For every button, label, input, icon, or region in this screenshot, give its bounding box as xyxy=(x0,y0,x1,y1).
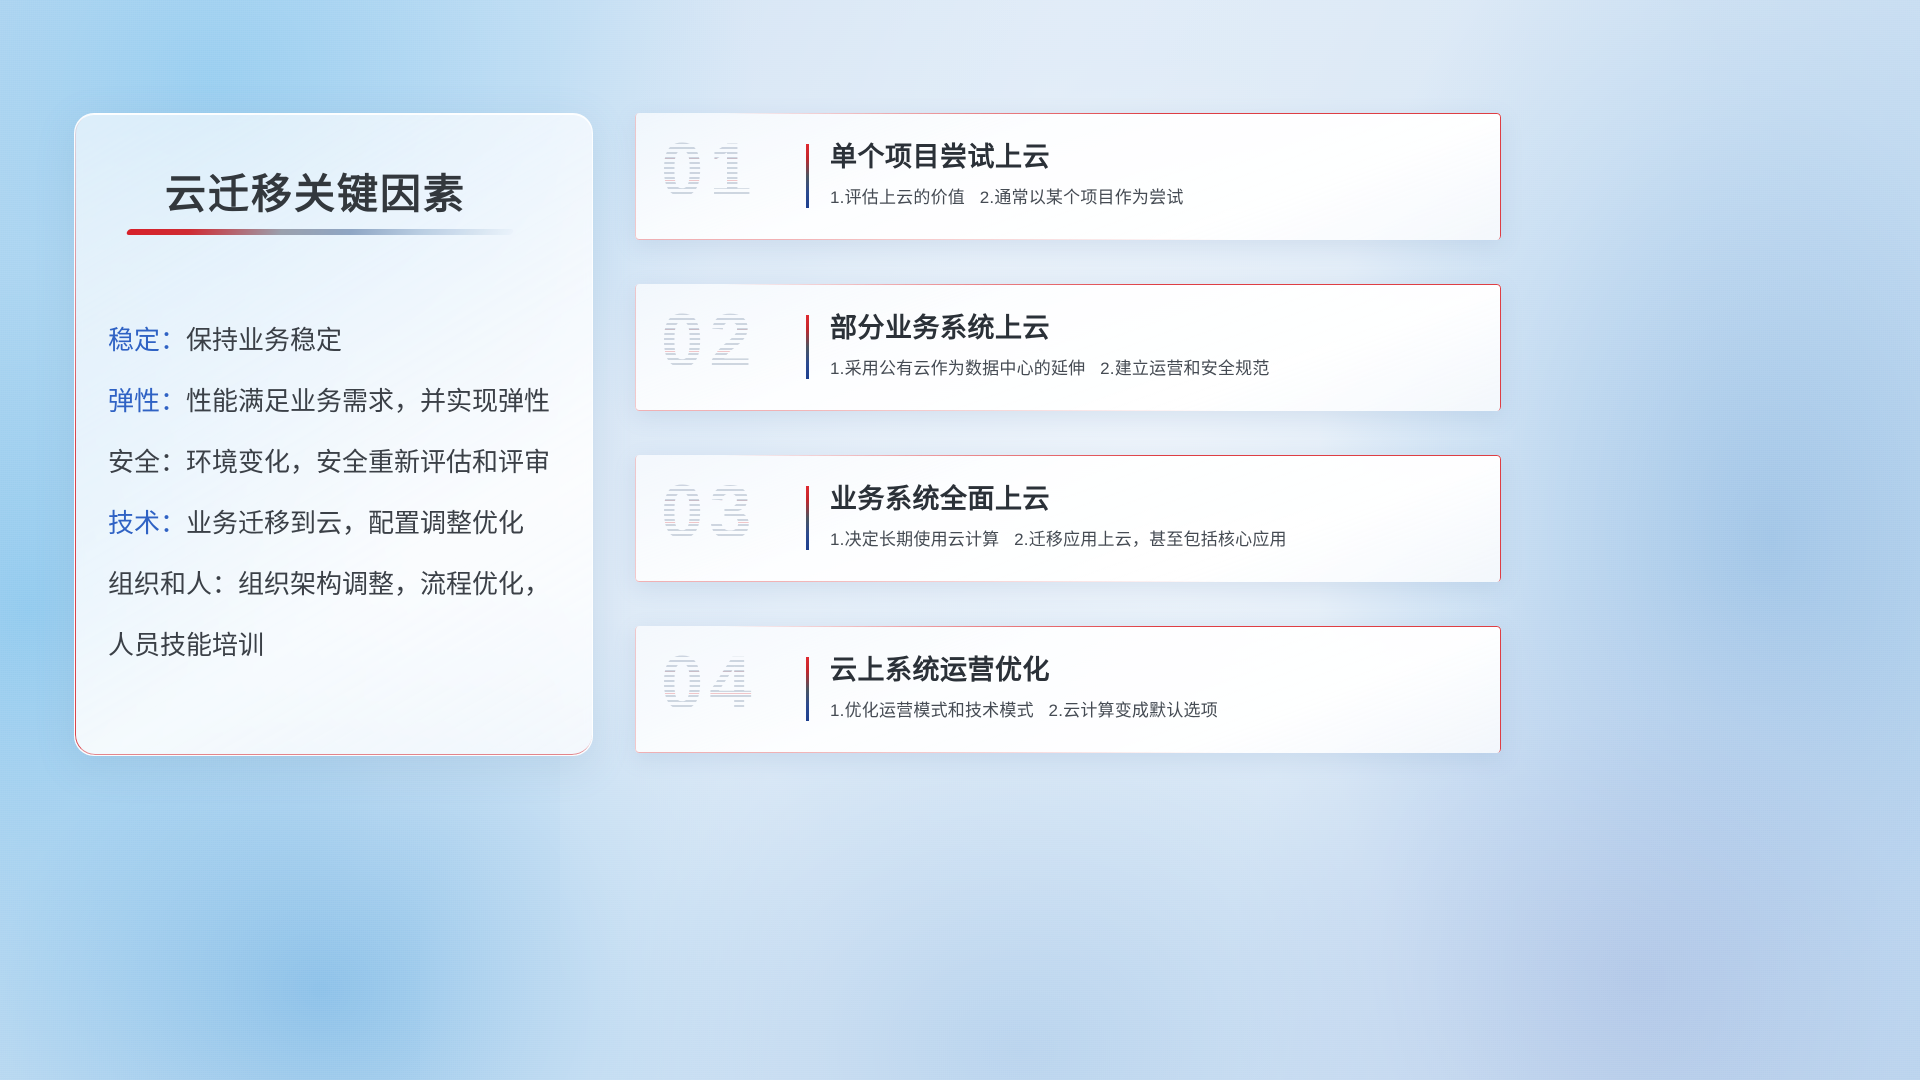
stage-card[interactable]: 0202部分业务系统上云1.采用公有云作为数据中心的延伸 2.建立运营和安全规范 xyxy=(635,284,1501,411)
key-factor-value: 保持业务稳定 xyxy=(186,325,342,355)
stage-number-watermark: 04 xyxy=(661,640,758,727)
key-factors-list: 稳定：保持业务稳定弹性：性能满足业务需求，并实现弹性安全：环境变化，安全重新评估… xyxy=(108,310,574,676)
stage-number-watermark: 03 xyxy=(661,469,758,556)
key-factor-label: 安全： xyxy=(108,447,186,477)
card-body: 云上系统运营优化1.优化运营模式和技术模式 2.云计算变成默认选项 xyxy=(830,651,1483,723)
panel-title: 云迁移关键因素 xyxy=(165,160,466,220)
card-body: 部分业务系统上云1.采用公有云作为数据中心的延伸 2.建立运营和安全规范 xyxy=(830,309,1483,381)
card-body: 业务系统全面上云1.决定长期使用云计算 2.迁移应用上云，甚至包括核心应用 xyxy=(830,480,1483,552)
card-description: 1.采用公有云作为数据中心的延伸 2.建立运营和安全规范 xyxy=(830,356,1483,381)
key-factor-line: 稳定：保持业务稳定 xyxy=(108,310,574,371)
title-underline-gradient xyxy=(126,229,514,235)
card-divider-bar xyxy=(806,144,809,208)
card-divider-bar xyxy=(806,315,809,379)
key-factor-label: 稳定： xyxy=(108,325,186,355)
key-factor-label: 弹性： xyxy=(108,386,186,416)
slide-stage: 云迁移关键因素 稳定：保持业务稳定弹性：性能满足业务需求，并实现弹性安全：环境变… xyxy=(0,0,1920,1080)
card-title: 业务系统全面上云 xyxy=(830,480,1483,518)
key-factor-line: 组织和人：组织架构调整，流程优化， xyxy=(108,554,574,615)
stage-card[interactable]: 0404云上系统运营优化1.优化运营模式和技术模式 2.云计算变成默认选项 xyxy=(635,626,1501,753)
key-factor-label: 技术： xyxy=(108,508,186,538)
key-factor-value: 人员技能培训 xyxy=(108,630,264,660)
key-factor-value: 性能满足业务需求，并实现弹性 xyxy=(186,386,550,416)
migration-stage-cards: 0101单个项目尝试上云1.评估上云的价值 2.通常以某个项目作为尝试0202部… xyxy=(635,113,1501,797)
stage-number-watermark: 02 xyxy=(661,298,758,385)
card-divider-bar xyxy=(806,486,809,550)
card-description: 1.决定长期使用云计算 2.迁移应用上云，甚至包括核心应用 xyxy=(830,527,1483,552)
card-title: 单个项目尝试上云 xyxy=(830,138,1483,176)
key-factors-panel: 云迁移关键因素 稳定：保持业务稳定弹性：性能满足业务需求，并实现弹性安全：环境变… xyxy=(74,113,593,756)
card-divider-bar xyxy=(806,657,809,721)
key-factor-value: 业务迁移到云，配置调整优化 xyxy=(186,508,524,538)
key-factor-value: 组织架构调整，流程优化， xyxy=(238,569,550,599)
stage-number-watermark: 01 xyxy=(661,127,758,214)
card-title: 部分业务系统上云 xyxy=(830,309,1483,347)
card-title: 云上系统运营优化 xyxy=(830,651,1483,689)
key-factor-line: 安全：环境变化，安全重新评估和评审 xyxy=(108,432,574,493)
key-factor-line: 技术：业务迁移到云，配置调整优化 xyxy=(108,493,574,554)
stage-card[interactable]: 0303业务系统全面上云1.决定长期使用云计算 2.迁移应用上云，甚至包括核心应… xyxy=(635,455,1501,582)
key-factor-label: 组织和人： xyxy=(108,569,238,599)
stage-card[interactable]: 0101单个项目尝试上云1.评估上云的价值 2.通常以某个项目作为尝试 xyxy=(635,113,1501,240)
card-description: 1.优化运营模式和技术模式 2.云计算变成默认选项 xyxy=(830,698,1483,723)
card-body: 单个项目尝试上云1.评估上云的价值 2.通常以某个项目作为尝试 xyxy=(830,138,1483,210)
key-factor-value: 环境变化，安全重新评估和评审 xyxy=(186,447,550,477)
key-factor-line: 人员技能培训 xyxy=(108,615,574,676)
key-factor-line: 弹性：性能满足业务需求，并实现弹性 xyxy=(108,371,574,432)
card-description: 1.评估上云的价值 2.通常以某个项目作为尝试 xyxy=(830,185,1483,210)
